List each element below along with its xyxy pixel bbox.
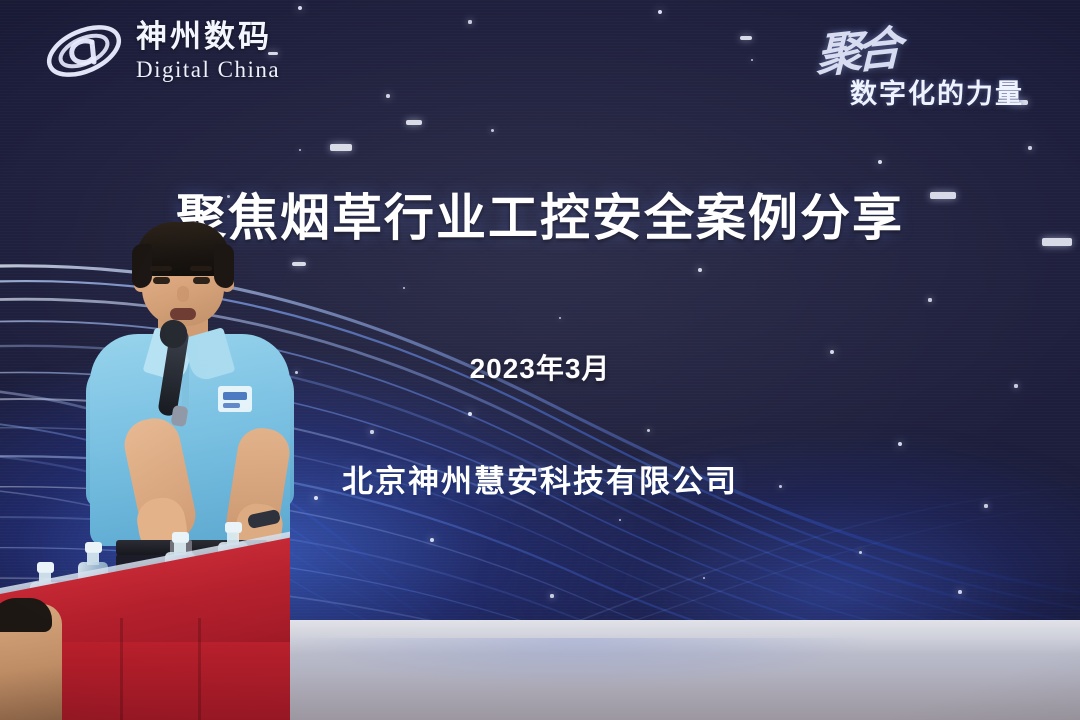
table-cloth-fold [198,618,201,720]
speaker-hair-side-right [214,244,234,288]
speaker-eye-right [193,277,210,284]
slogan-subtitle: 数字化的力量 [850,72,1024,111]
floor-reflection [230,638,930,708]
speaker-eyebrow-right [190,266,212,271]
screenshot-root: 神州数码 Digital China 聚合 数字化的力量 聚焦烟草行业工控安全案… [0,0,1080,720]
attendee-foreground-hair [0,598,52,632]
table-cloth-fold [120,618,123,720]
slogan-lockup: 聚合 数字化的力量 [788,16,1056,120]
speaker-chest-logo-bar [223,392,247,400]
digital-china-swirl-icon [42,18,126,84]
speaker-nose [177,286,189,302]
speaker-hair-side-left [132,244,152,288]
speaker-eyebrow-left [150,266,172,271]
brand-name-en: Digital China [136,58,280,81]
speaker-chest-logo-bar2 [223,403,240,408]
speaker-mouth [170,308,196,320]
brand-name-cn: 神州数码 [136,21,280,52]
speaker-eye-left [153,277,170,284]
brand-lockup: 神州数码 Digital China [42,18,280,84]
brand-text: 神州数码 Digital China [136,21,280,81]
